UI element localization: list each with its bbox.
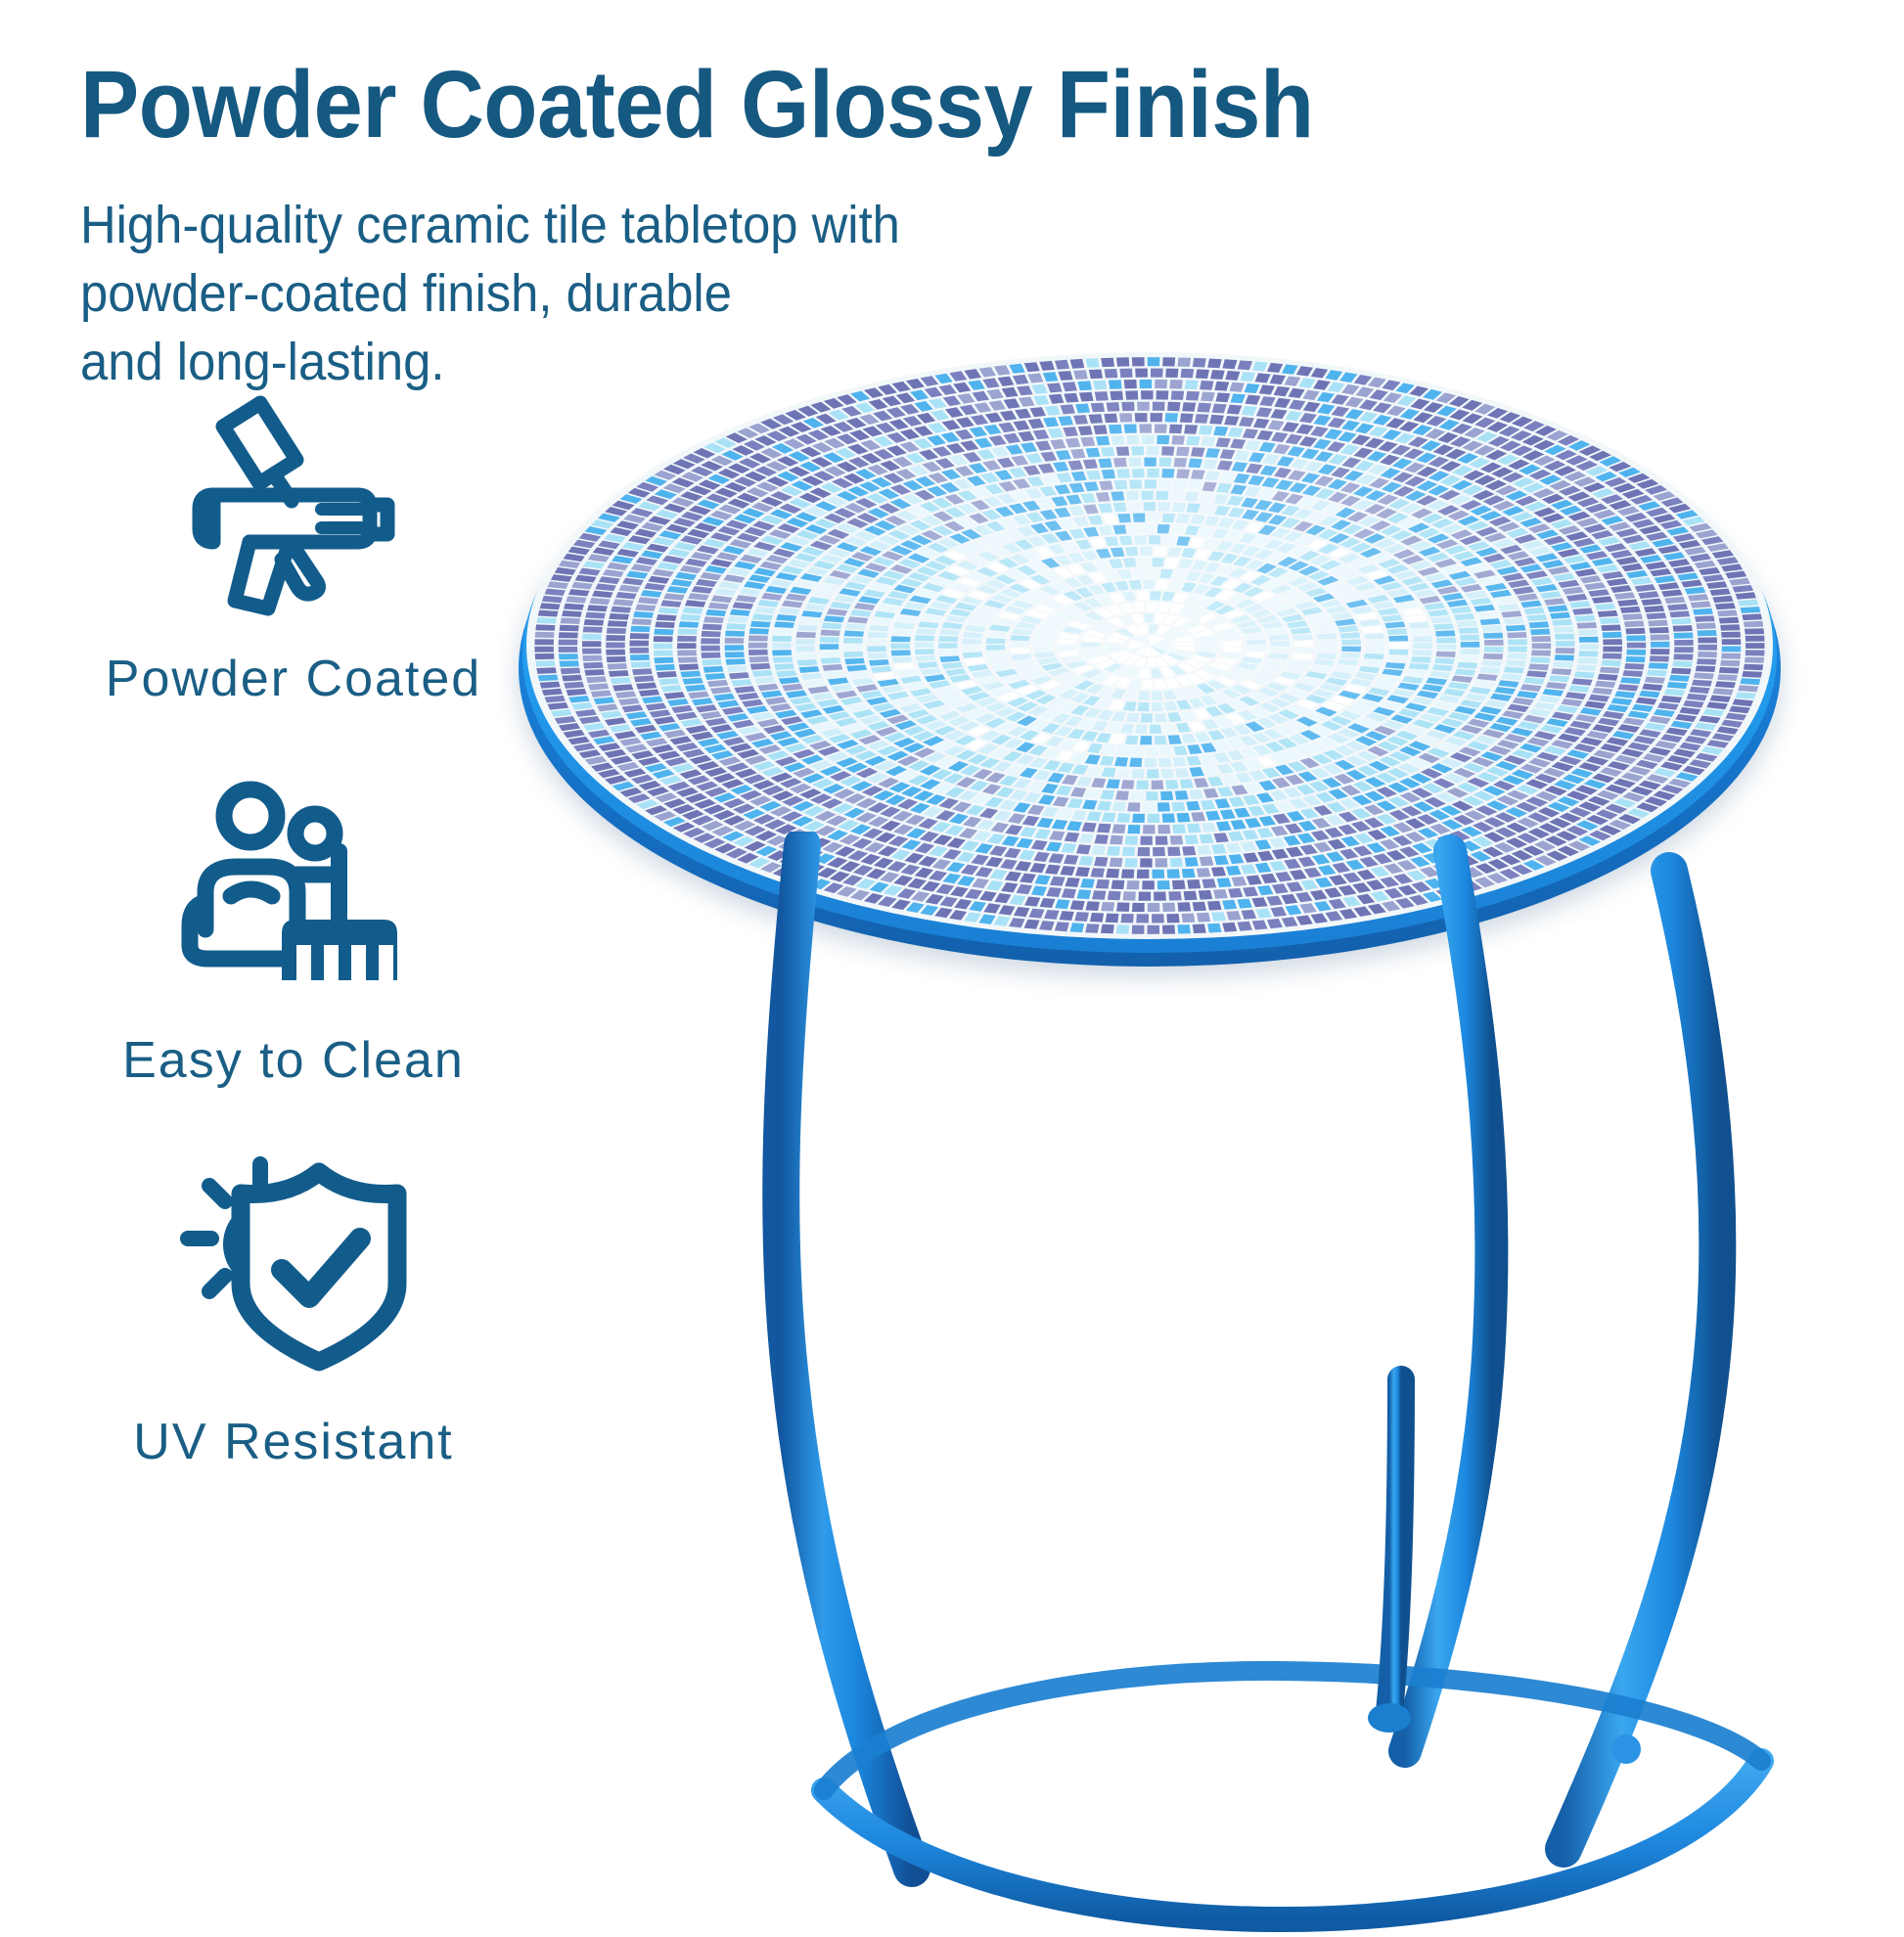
product-feature-banner: Powder Coated Glossy Finish High-quality…	[0, 0, 1904, 1904]
cleaning-broom-icon	[166, 773, 421, 998]
table-leg-back-right	[1405, 851, 1491, 1751]
shield-outline	[241, 1172, 397, 1362]
table-leg-left	[781, 845, 912, 1869]
ring-joint-nub	[1611, 1734, 1641, 1764]
sun-shield-check-icon	[166, 1154, 421, 1379]
product-image	[460, 323, 1904, 1927]
feature-label-uv-resistant: UV Resistant	[133, 1413, 453, 1471]
feature-label-powder-coated: Powder Coated	[106, 650, 481, 708]
inner-support-post	[1389, 1379, 1401, 1712]
table-legs	[460, 832, 1904, 1937]
feature-label-easy-to-clean: Easy to Clean	[122, 1031, 465, 1090]
stretcher-ring-front	[824, 1761, 1761, 1919]
post-foot	[1368, 1703, 1411, 1733]
page-title: Powder Coated Glossy Finish	[80, 57, 1314, 154]
spray-gun-icon	[166, 391, 421, 616]
